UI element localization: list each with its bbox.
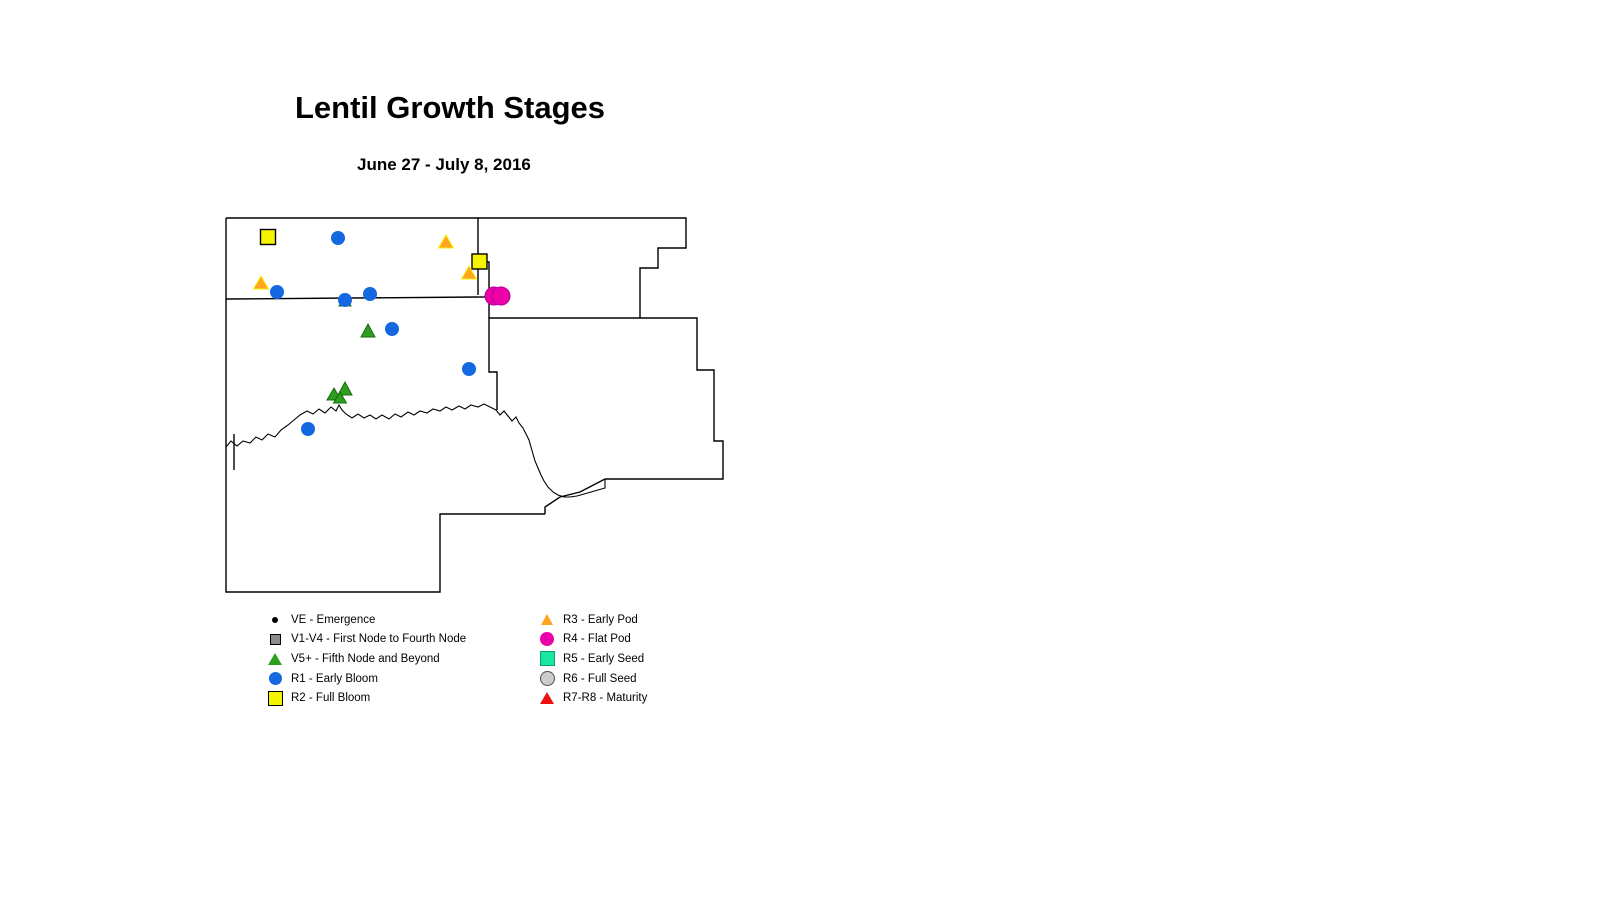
marker-r3-early-pod (254, 276, 269, 289)
circle-marker-icon (262, 669, 288, 688)
square-marker-icon (262, 630, 288, 649)
marker-r2-full-bloom (472, 254, 487, 269)
marker-v5-fifth-node (334, 392, 347, 403)
legend-column-right: R3 - Early Pod R4 - Flat Pod R5 - Early … (534, 610, 647, 708)
marker-r1-early-bloom (331, 231, 345, 245)
map-markers (254, 230, 511, 437)
legend-item-v5: V5+ - Fifth Node and Beyond (262, 649, 466, 669)
legend-label-v1-v4: V1-V4 - First Node to Fourth Node (288, 633, 466, 645)
dot-marker-icon (262, 610, 288, 629)
legend-label-r3: R3 - Early Pod (560, 614, 638, 626)
circle-marker-icon (534, 630, 560, 649)
marker-v5-fifth-node (327, 388, 341, 400)
triangle-marker-icon (534, 610, 560, 629)
circle-marker-icon (534, 669, 560, 688)
marker-r1-early-bloom (338, 293, 352, 307)
map-state-boundaries (226, 218, 723, 592)
marker-v5-fifth-node (339, 295, 351, 306)
legend-item-r5: R5 - Early Seed (534, 649, 647, 669)
legend-item-ve: VE - Emergence (262, 610, 466, 630)
legend-item-r4: R4 - Flat Pod (534, 630, 647, 650)
legend-label-v5: V5+ - Fifth Node and Beyond (288, 653, 440, 665)
legend-item-v1-v4: V1-V4 - First Node to Fourth Node (262, 630, 466, 650)
legend-item-r3: R3 - Early Pod (534, 610, 647, 630)
square-marker-icon (262, 689, 288, 708)
map-river-boundary (226, 404, 605, 497)
legend-column-left: VE - Emergence V1-V4 - First Node to Fou… (262, 610, 466, 708)
legend-label-r7-r8: R7-R8 - Maturity (560, 692, 647, 704)
legend-label-ve: VE - Emergence (288, 614, 375, 626)
legend-item-r7-r8: R7-R8 - Maturity (534, 688, 647, 708)
legend: VE - Emergence V1-V4 - First Node to Fou… (262, 610, 682, 720)
marker-r1-early-bloom (462, 362, 476, 376)
page-title: Lentil Growth Stages (295, 90, 605, 126)
triangle-marker-icon (262, 649, 288, 668)
legend-item-r6: R6 - Full Seed (534, 669, 647, 689)
legend-label-r4: R4 - Flat Pod (560, 633, 631, 645)
marker-r1-early-bloom (270, 285, 284, 299)
legend-item-r1: R1 - Early Bloom (262, 669, 466, 689)
triangle-marker-icon (534, 689, 560, 708)
marker-r3-early-pod (439, 235, 454, 248)
legend-label-r1: R1 - Early Bloom (288, 673, 378, 685)
page-subtitle: June 27 - July 8, 2016 (357, 155, 531, 175)
marker-r1-early-bloom (301, 422, 315, 436)
legend-label-r5: R5 - Early Seed (560, 653, 644, 665)
marker-r1-early-bloom (385, 322, 399, 336)
marker-r4-flat-pod (485, 287, 503, 305)
map-canvas (0, 0, 1612, 900)
marker-r1-early-bloom (363, 287, 377, 301)
legend-label-r6: R6 - Full Seed (560, 673, 637, 685)
legend-label-r2: R2 - Full Bloom (288, 692, 370, 704)
marker-v5-fifth-node (361, 324, 375, 337)
marker-r4-flat-pod (492, 287, 510, 305)
marker-r2-full-bloom (261, 230, 276, 245)
marker-r3-early-pod (462, 266, 477, 279)
square-marker-icon (534, 649, 560, 668)
legend-item-r2: R2 - Full Bloom (262, 688, 466, 708)
marker-v5-fifth-node (338, 382, 352, 395)
